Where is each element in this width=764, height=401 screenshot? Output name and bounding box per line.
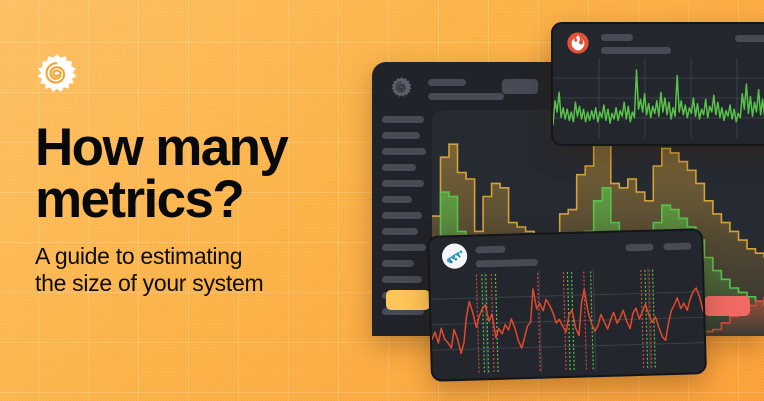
sidebar-item[interactable]	[382, 164, 416, 171]
panel-placeholder-title	[601, 34, 633, 41]
sidebar-item[interactable]	[382, 116, 424, 123]
sidebar-item[interactable]	[382, 180, 424, 187]
sidebar-item[interactable]	[382, 196, 412, 203]
sidebar-item[interactable]	[382, 228, 418, 235]
panel-placeholder-control[interactable]	[663, 243, 691, 251]
sidebar-item[interactable]	[382, 260, 414, 267]
promo-banner: How many metrics? A guide to estimating …	[0, 0, 764, 401]
panel-placeholder-subtitle	[476, 259, 538, 268]
graphite-panel[interactable]	[427, 228, 707, 382]
prometheus-panel-header	[553, 24, 764, 58]
sidebar-item[interactable]	[382, 276, 422, 283]
topbar-placeholder-control[interactable]	[502, 79, 538, 94]
graphite-line-chart	[430, 266, 705, 376]
sidebar-item[interactable]	[382, 132, 420, 139]
topbar-placeholder-title	[428, 79, 466, 86]
dashboard-secondary-button[interactable]	[704, 296, 750, 316]
panel-placeholder-control[interactable]	[625, 244, 653, 252]
grafana-logo-icon	[390, 76, 413, 99]
prometheus-chart-area	[553, 58, 764, 138]
prometheus-line-chart	[553, 58, 764, 138]
prometheus-panel[interactable]	[551, 22, 764, 146]
dashboard-sidebar	[372, 110, 432, 336]
graphite-logo-icon	[441, 243, 468, 270]
hero-copy: How many metrics? A guide to estimating …	[35, 52, 365, 297]
topbar-placeholder-subtitle	[428, 93, 504, 100]
panel-placeholder-subtitle	[601, 47, 671, 54]
sidebar-item[interactable]	[382, 212, 422, 219]
graphite-chart-area	[430, 266, 705, 376]
sidebar-primary-button[interactable]	[386, 290, 430, 310]
grafana-logo-icon	[35, 52, 79, 96]
panel-placeholder-title	[475, 246, 505, 254]
prometheus-logo-icon	[567, 32, 589, 54]
sidebar-item[interactable]	[382, 244, 426, 251]
sidebar-item[interactable]	[382, 148, 426, 155]
page-title: How many metrics?	[35, 122, 365, 227]
page-subtitle: A guide to estimating the size of your s…	[35, 243, 365, 297]
panel-placeholder-control[interactable]	[735, 35, 764, 42]
